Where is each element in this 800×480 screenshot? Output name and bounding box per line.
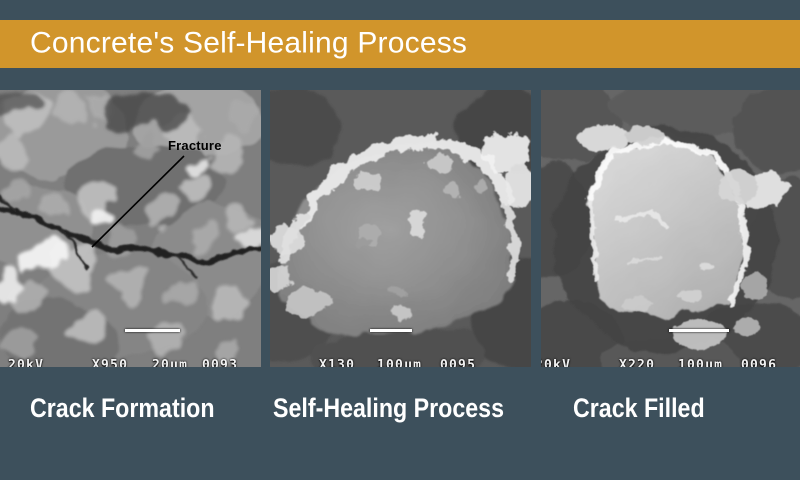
sem-image-crack-filled	[541, 90, 800, 367]
caption-crack-filled: Crack Filled	[573, 392, 705, 424]
caption-self-healing-process: Self-Healing Process	[273, 392, 504, 424]
sem-image-crack-formation	[0, 90, 261, 367]
caption-row: Crack Formation Self-Healing Process Cra…	[0, 392, 800, 432]
page-title: Concrete's Self-Healing Process	[30, 26, 467, 60]
title-bar: Concrete's Self-Healing Process	[0, 20, 800, 68]
micrograph-panel-self-healing: X130 100μm 0095	[270, 90, 531, 367]
caption-crack-formation: Crack Formation	[30, 392, 215, 424]
micrograph-panel-crack-formation: Fracture 20kV X950 20μm 0093	[0, 90, 261, 367]
micrograph-panel-crack-filled: 20kV X220 100μm 0096	[541, 90, 800, 367]
sem-image-self-healing	[270, 90, 531, 367]
micrograph-panel-row: Fracture 20kV X950 20μm 0093	[0, 90, 800, 367]
infographic-root: Concrete's Self-Healing Process	[0, 0, 800, 480]
fracture-label: Fracture	[168, 138, 222, 153]
